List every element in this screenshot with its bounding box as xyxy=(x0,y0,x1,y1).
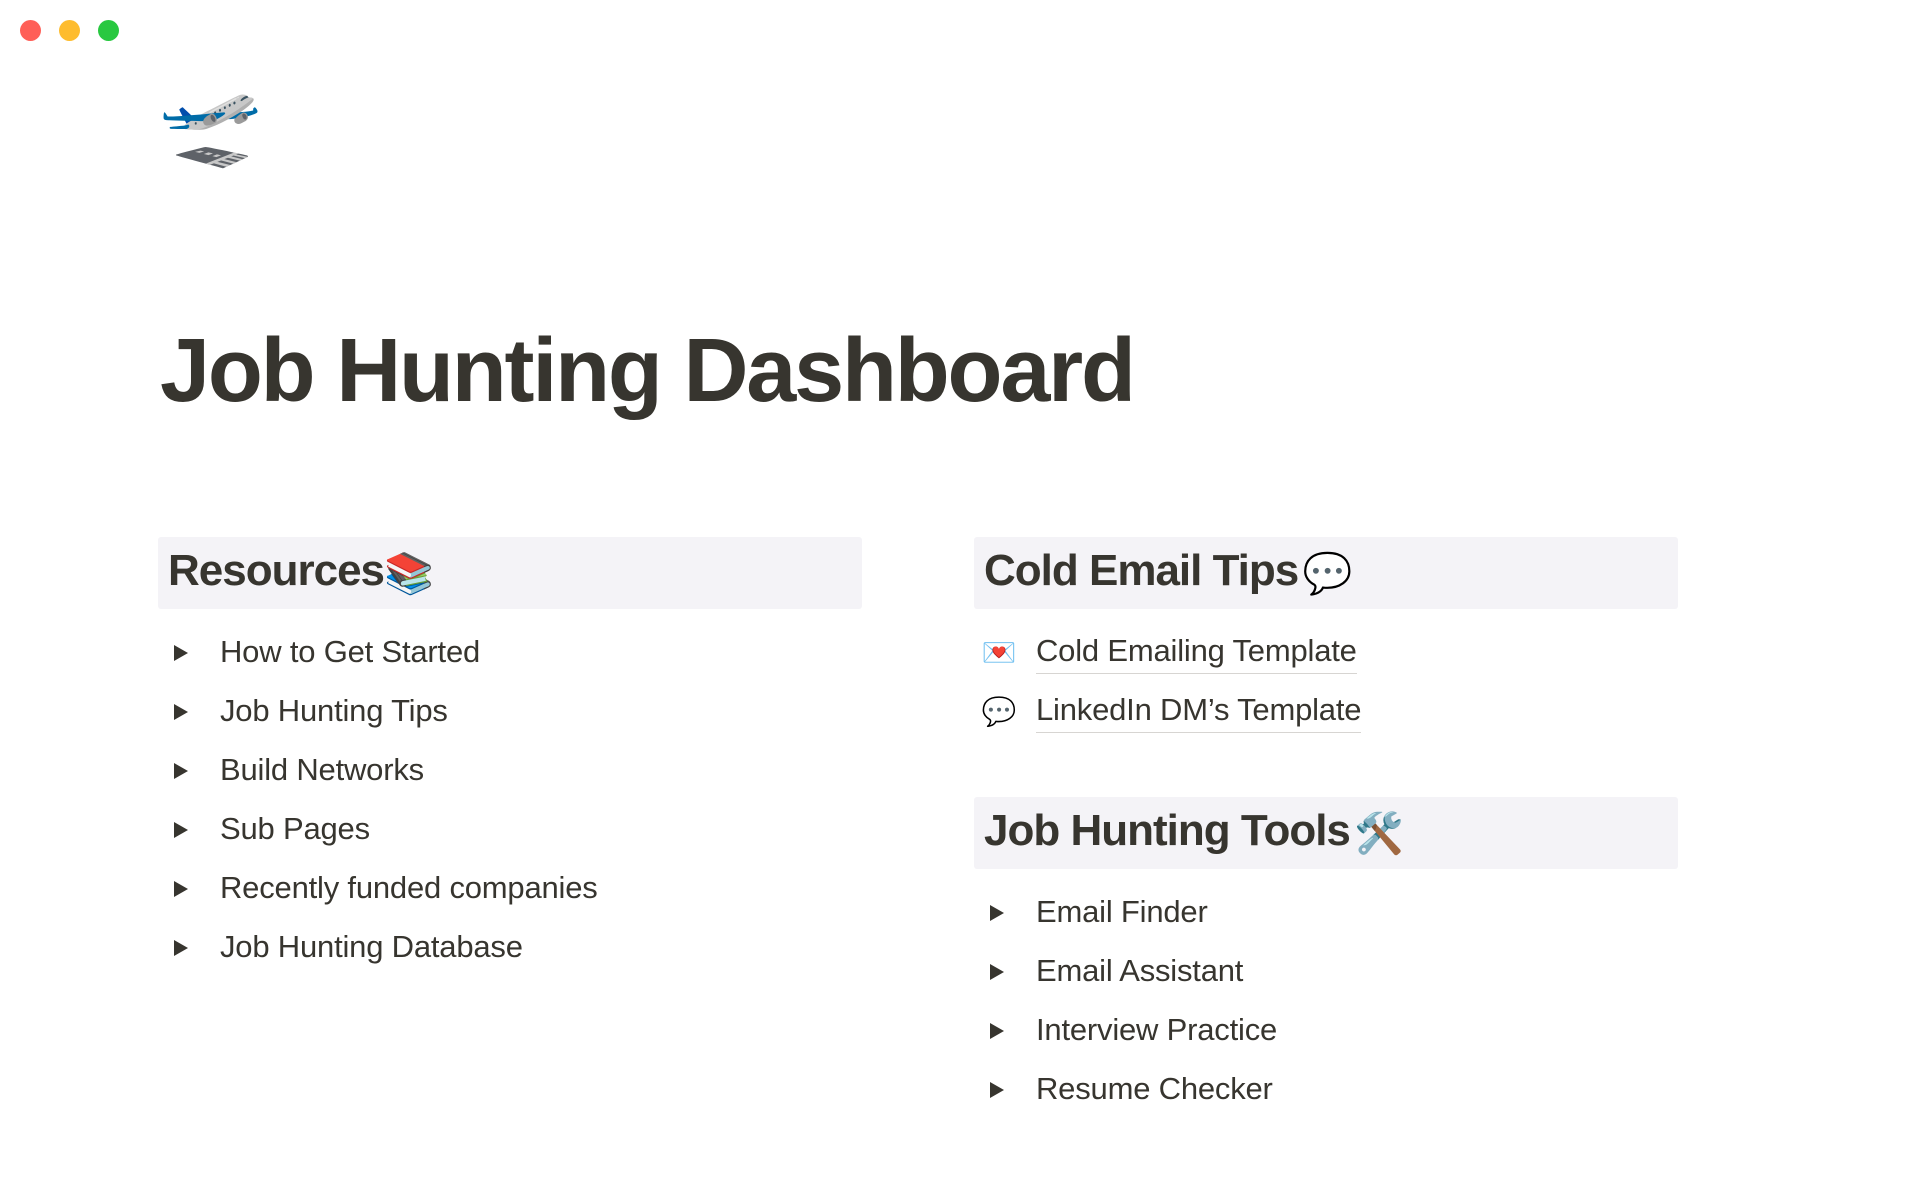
chevron-right-icon[interactable] xyxy=(984,1081,1010,1099)
left-column: Resources📚 How to Get Started xyxy=(158,537,862,1119)
chevron-right-icon[interactable] xyxy=(984,963,1010,981)
chevron-right-icon[interactable] xyxy=(168,821,194,839)
section-heading-resources: Resources📚 xyxy=(158,537,862,609)
toggle-item-label: Recently funded companies xyxy=(220,868,598,908)
toggle-item-label: Sub Pages xyxy=(220,809,370,849)
link-item-linkedin-dms-template[interactable]: 💬 LinkedIn DM’s Template xyxy=(974,682,1678,741)
toggle-item-how-to-get-started[interactable]: How to Get Started xyxy=(158,623,862,682)
chevron-right-icon[interactable] xyxy=(168,762,194,780)
toggle-item-label: Resume Checker xyxy=(1036,1069,1273,1109)
two-column-layout: Resources📚 How to Get Started xyxy=(158,537,1778,1119)
chevron-right-icon[interactable] xyxy=(168,703,194,721)
toggle-item-build-networks[interactable]: Build Networks xyxy=(158,741,862,800)
section-heading-label: Cold Email Tips xyxy=(984,546,1298,595)
link-item-cold-emailing-template[interactable]: 💌 Cold Emailing Template xyxy=(974,623,1678,682)
chevron-right-icon[interactable] xyxy=(168,880,194,898)
chevron-right-icon[interactable] xyxy=(168,939,194,957)
airplane-departure-icon[interactable]: 🛫 xyxy=(158,80,263,164)
toggle-item-email-assistant[interactable]: Email Assistant xyxy=(974,942,1678,1001)
toggle-item-sub-pages[interactable]: Sub Pages xyxy=(158,800,862,859)
chevron-right-icon[interactable] xyxy=(984,1022,1010,1040)
toggle-item-resume-checker[interactable]: Resume Checker xyxy=(974,1060,1678,1119)
section-resources: Resources📚 How to Get Started xyxy=(158,537,862,977)
page-content: 🛫 Job Hunting Dashboard Resources📚 How t… xyxy=(0,62,1920,1200)
speech-balloon-icon: 💬 xyxy=(984,698,1014,726)
toggle-item-label: Build Networks xyxy=(220,750,424,790)
toggle-item-job-hunting-tips[interactable]: Job Hunting Tips xyxy=(158,682,862,741)
chevron-right-icon[interactable] xyxy=(168,644,194,662)
toggle-item-label: Job Hunting Tips xyxy=(220,691,448,731)
toggle-item-label: How to Get Started xyxy=(220,632,480,672)
toggle-item-recently-funded-companies[interactable]: Recently funded companies xyxy=(158,859,862,918)
resources-toggle-list: How to Get Started Job Hunting Tips xyxy=(158,623,862,977)
hammer-and-wrench-icon: 🛠️ xyxy=(1354,812,1404,856)
right-column: Cold Email Tips 💬 💌 Cold Emailing Templa… xyxy=(974,537,1678,1119)
traffic-light-controls xyxy=(20,20,119,41)
love-letter-icon: 💌 xyxy=(984,639,1014,667)
maximize-window-button[interactable] xyxy=(98,20,119,41)
cold-email-tips-link-list: 💌 Cold Emailing Template 💬 LinkedIn DM’s… xyxy=(974,623,1678,741)
link-label[interactable]: LinkedIn DM’s Template xyxy=(1036,690,1361,733)
toggle-item-label: Email Finder xyxy=(1036,892,1208,932)
section-heading-label: Resources xyxy=(168,546,384,595)
toggle-item-label: Interview Practice xyxy=(1036,1010,1277,1050)
page-title: Job Hunting Dashboard xyxy=(160,324,1134,419)
toggle-item-label: Email Assistant xyxy=(1036,951,1243,991)
close-window-button[interactable] xyxy=(20,20,41,41)
books-icon: 📚 xyxy=(384,552,434,596)
section-cold-email-tips: Cold Email Tips 💬 💌 Cold Emailing Templa… xyxy=(974,537,1678,741)
toggle-item-interview-practice[interactable]: Interview Practice xyxy=(974,1001,1678,1060)
section-job-hunting-tools: Job Hunting Tools 🛠️ Email Finder xyxy=(974,797,1678,1119)
window-titlebar xyxy=(0,0,1920,62)
minimize-window-button[interactable] xyxy=(59,20,80,41)
section-heading-cold-email-tips: Cold Email Tips 💬 xyxy=(974,537,1678,609)
section-heading-label: Job Hunting Tools xyxy=(984,806,1350,855)
section-heading-job-hunting-tools: Job Hunting Tools 🛠️ xyxy=(974,797,1678,869)
chevron-right-icon[interactable] xyxy=(984,904,1010,922)
speech-balloon-icon: 💬 xyxy=(1303,552,1353,596)
toggle-item-job-hunting-database[interactable]: Job Hunting Database xyxy=(158,918,862,977)
app-window: 🛫 Job Hunting Dashboard Resources📚 How t… xyxy=(0,0,1920,1200)
toggle-item-label: Job Hunting Database xyxy=(220,927,523,967)
job-hunting-tools-toggle-list: Email Finder Email Assistant xyxy=(974,883,1678,1119)
toggle-item-email-finder[interactable]: Email Finder xyxy=(974,883,1678,942)
link-label[interactable]: Cold Emailing Template xyxy=(1036,631,1357,674)
